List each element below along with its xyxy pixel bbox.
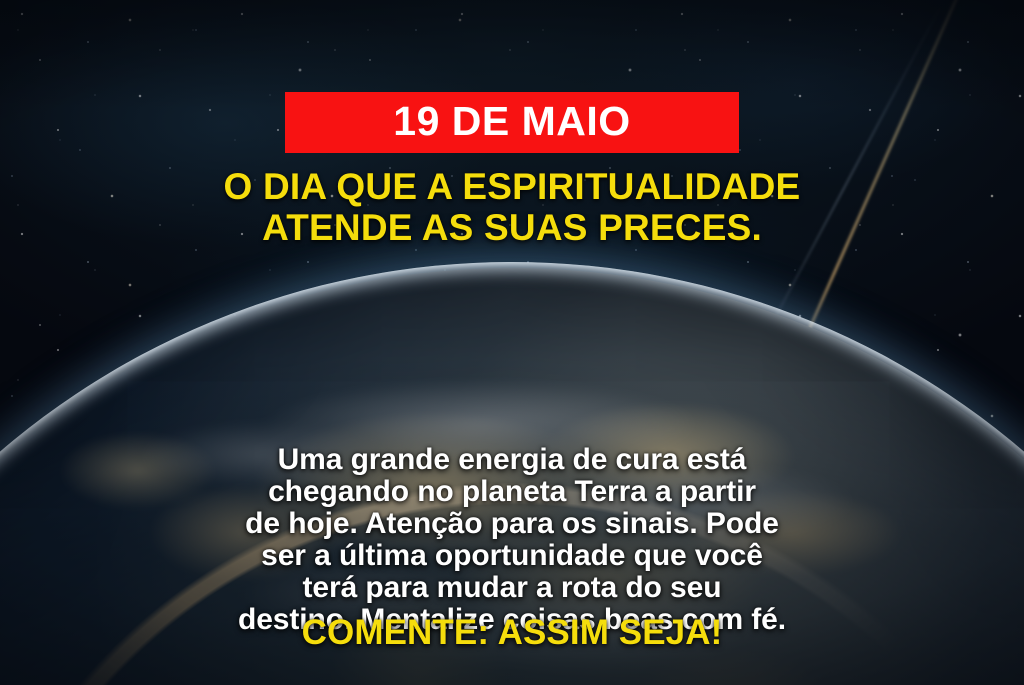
date-banner-label: 19 DE MAIO (393, 101, 630, 142)
body-line-4: ser a última oportunidade que você (48, 540, 976, 572)
body-line-2: chegando no planeta Terra a partir (48, 476, 976, 508)
poster-content: 19 DE MAIO O DIA QUE A ESPIRITUALIDADE A… (0, 0, 1024, 685)
body-line-1: Uma grande energia de cura está (48, 444, 976, 476)
poster-canvas: 19 DE MAIO O DIA QUE A ESPIRITUALIDADE A… (0, 0, 1024, 685)
body-line-5: terá para mudar a rota do seu (48, 572, 976, 604)
headline: O DIA QUE A ESPIRITUALIDADE ATENDE AS SU… (0, 166, 1024, 249)
call-to-action: COMENTE: ASSIM SEJA! (0, 613, 1024, 653)
headline-line-2: ATENDE AS SUAS PRECES. (0, 207, 1024, 248)
cta-label: COMENTE: ASSIM SEJA! (302, 613, 723, 652)
body-line-3: de hoje. Atenção para os sinais. Pode (48, 508, 976, 540)
date-banner: 19 DE MAIO (285, 92, 739, 153)
body-copy: Uma grande energia de cura está chegando… (0, 444, 1024, 637)
headline-line-1: O DIA QUE A ESPIRITUALIDADE (224, 166, 801, 207)
